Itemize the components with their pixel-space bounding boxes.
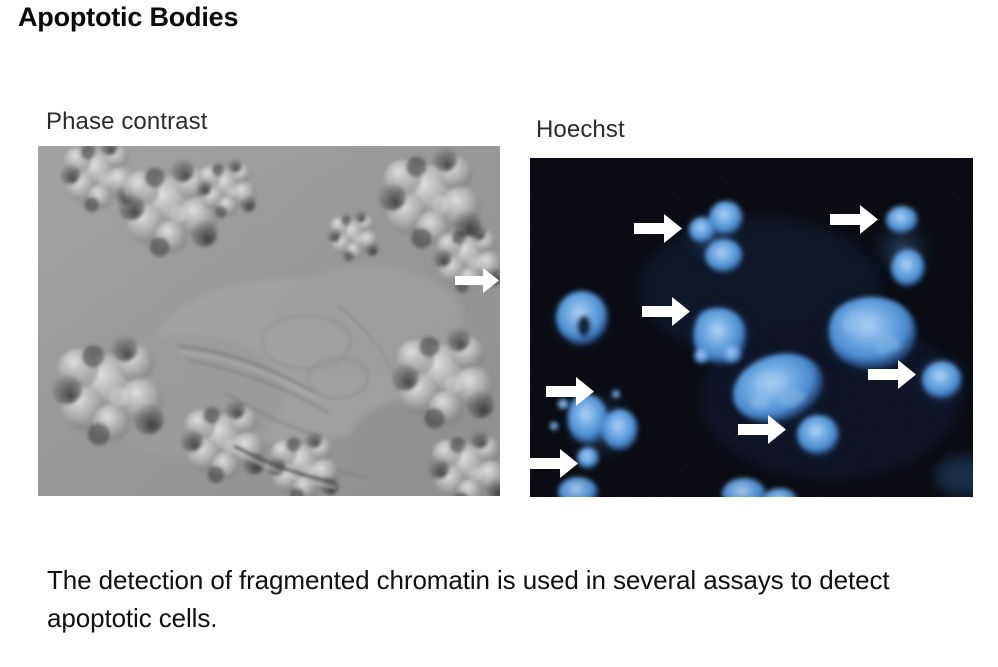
hoechst-micrograph <box>530 158 973 497</box>
panel-label-hoechst: Hoechst <box>536 116 625 144</box>
panel-label-phase-contrast: Phase contrast <box>46 108 208 136</box>
hoechst-image <box>530 158 973 497</box>
phase-contrast-micrograph <box>38 146 500 496</box>
phase-contrast-image <box>38 146 500 496</box>
slide: Apoptotic Bodies Phase contrast <box>0 0 998 667</box>
page-title: Apoptotic Bodies <box>18 2 238 33</box>
caption-text: The detection of fragmented chromatin is… <box>47 561 975 637</box>
